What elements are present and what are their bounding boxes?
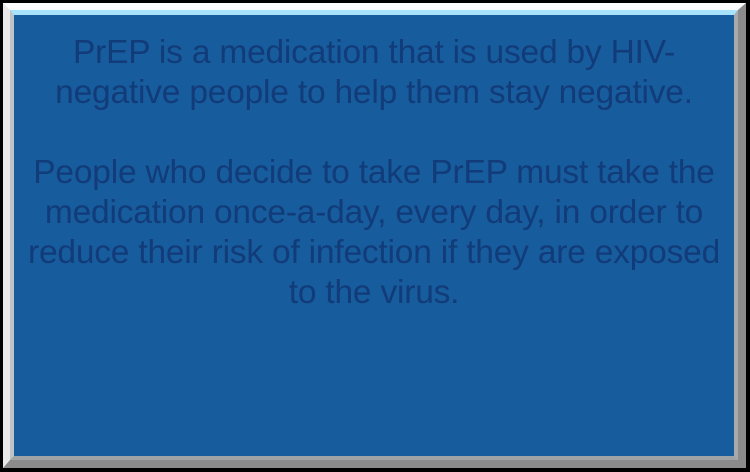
- slide-content-panel: PrEP is a medication that is used by HIV…: [14, 15, 734, 456]
- slide-outer-frame: PrEP is a medication that is used by HIV…: [0, 0, 750, 472]
- bevel-outer-ring: PrEP is a medication that is used by HIV…: [3, 3, 746, 468]
- bevel-inner-ring: PrEP is a medication that is used by HIV…: [10, 10, 738, 460]
- paragraph-what-is-prep: PrEP is a medication that is used by HIV…: [28, 33, 720, 113]
- paragraph-how-to-take-prep: People who decide to take PrEP must take…: [28, 153, 720, 313]
